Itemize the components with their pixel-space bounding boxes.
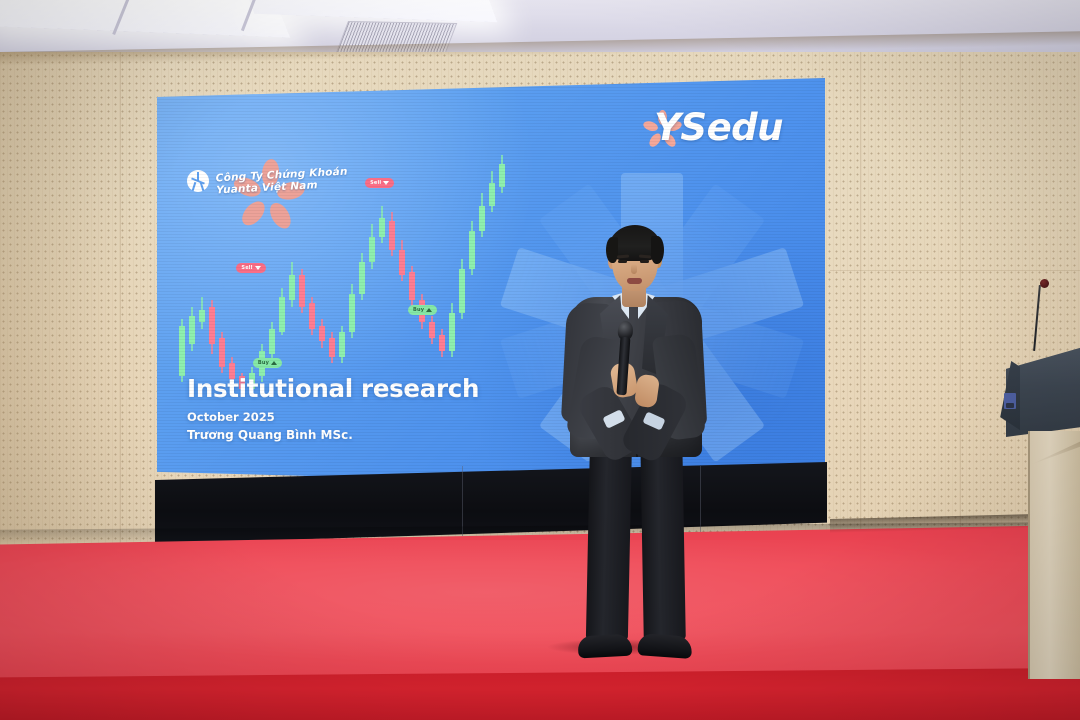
candle-body	[309, 303, 315, 328]
candlestick	[419, 150, 425, 400]
candle-body	[289, 275, 295, 300]
marker-label: Buy	[413, 307, 424, 313]
candle-body	[429, 322, 435, 338]
candle-body	[449, 313, 455, 351]
shoe	[577, 634, 632, 659]
carpet-highlight	[0, 540, 1080, 670]
candlestick	[479, 150, 485, 400]
marker-label: Sell	[241, 265, 252, 271]
candle-body	[359, 262, 365, 294]
candlestick	[409, 150, 415, 400]
podium-lectern	[1000, 345, 1080, 675]
candlestick	[199, 150, 205, 400]
candlestick	[449, 150, 455, 400]
mouth	[627, 278, 642, 284]
candle-body	[179, 326, 185, 377]
candlestick	[349, 150, 355, 400]
candle-body	[189, 316, 195, 344]
candlestick	[459, 150, 465, 400]
sell-marker: Sell	[236, 263, 265, 273]
trouser-leg	[586, 435, 632, 641]
arrow-up-icon	[426, 308, 432, 312]
eye-left	[618, 260, 627, 263]
candlestick	[179, 150, 185, 400]
slide-content: YSedu Công Ty Chứng Khoán Yuanta Việt Na…	[157, 78, 825, 490]
eye-right	[640, 260, 649, 263]
presenter-legs	[584, 435, 688, 650]
slide-title: Institutional research	[187, 374, 479, 403]
candle-body	[209, 307, 215, 345]
candlestick	[469, 150, 475, 400]
candlestick	[359, 150, 365, 400]
candle-body	[389, 221, 395, 249]
podium-column-edge	[1028, 431, 1030, 679]
buy-marker: Buy	[408, 305, 437, 315]
candlestick	[189, 150, 195, 400]
candlestick	[439, 150, 445, 400]
marker-label: Buy	[258, 360, 269, 366]
led-skirt-seam	[462, 466, 463, 536]
candle-body	[329, 338, 335, 357]
conference-photo-scene: YSedu Công Ty Chứng Khoán Yuanta Việt Na…	[0, 0, 1080, 720]
candle-body	[469, 231, 475, 269]
candlestick	[379, 150, 385, 400]
arrow-down-icon	[255, 266, 261, 270]
wall-panel-seam	[120, 52, 121, 612]
candle-body	[279, 297, 285, 332]
wall-panel-seam	[830, 270, 1080, 271]
candle-body	[299, 275, 305, 307]
candlestick	[429, 150, 435, 400]
trouser-leg	[640, 435, 686, 641]
sell-marker: Sell	[365, 178, 394, 188]
wall-shading-left	[0, 52, 170, 612]
candle-body	[399, 250, 405, 275]
candlestick	[499, 150, 505, 400]
candle-body	[349, 294, 355, 332]
podium-column	[1028, 431, 1080, 679]
candle-body	[439, 335, 445, 351]
candlestick	[389, 150, 395, 400]
candlestick	[209, 150, 215, 400]
candle-body	[459, 269, 465, 313]
candlestick	[489, 150, 495, 400]
candle-body	[499, 164, 505, 186]
microphone-head-icon	[1040, 279, 1049, 288]
slide-author: Trương Quang Bình MSc.	[187, 428, 479, 442]
candlestick	[369, 150, 375, 400]
nose	[631, 264, 637, 274]
candle-body	[379, 218, 385, 237]
presenter	[560, 225, 710, 665]
ysedu-logo: YSedu	[654, 106, 783, 149]
slide-date: October 2025	[187, 410, 479, 424]
candle-body	[489, 183, 495, 205]
arrow-down-icon	[383, 181, 389, 185]
candle-body	[219, 338, 225, 366]
candle-body	[409, 272, 415, 300]
candle-body	[269, 329, 275, 354]
candle-body	[479, 206, 485, 231]
podium-button[interactable]	[1006, 403, 1014, 408]
candle-body	[319, 326, 325, 342]
candle-body	[199, 310, 205, 323]
candle-body	[339, 332, 345, 357]
led-video-wall: YSedu Công Ty Chứng Khoán Yuanta Việt Na…	[157, 78, 825, 490]
buy-marker: Buy	[253, 358, 282, 368]
candle-body	[369, 237, 375, 262]
marker-label: Sell	[370, 180, 381, 186]
candlestick	[399, 150, 405, 400]
slide-title-block: Institutional research October 2025 Trươ…	[187, 374, 479, 442]
arrow-up-icon	[271, 361, 277, 365]
ysedu-logo-text: YSedu	[654, 106, 783, 149]
